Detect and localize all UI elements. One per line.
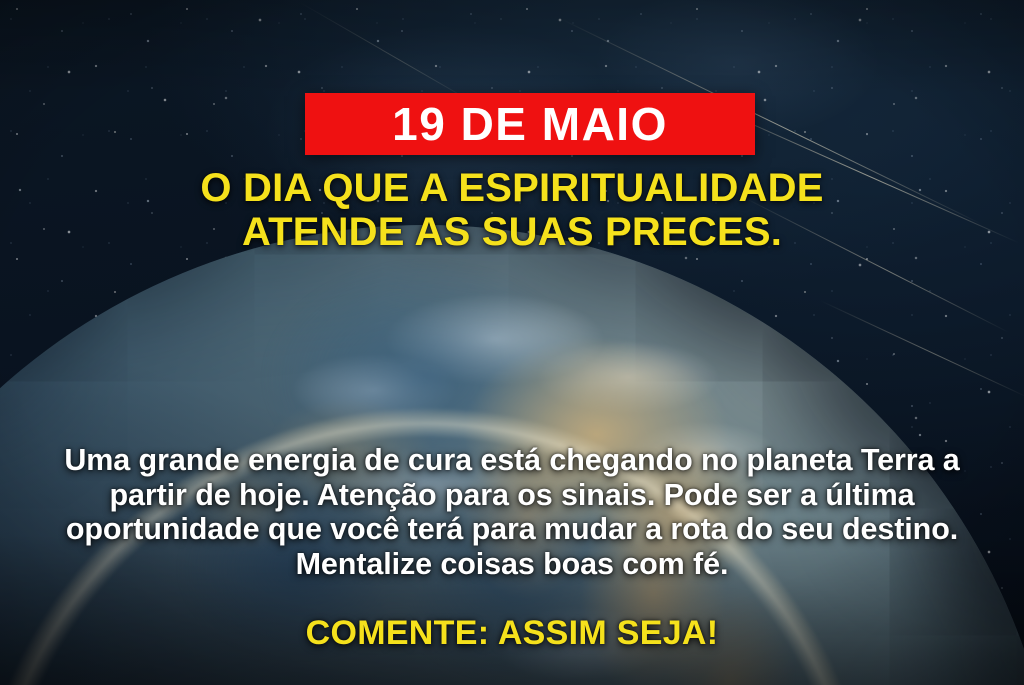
date-banner: 19 DE MAIO xyxy=(305,93,755,155)
headline-line-2: ATENDE AS SUAS PRECES. xyxy=(0,210,1024,254)
headline-line-1: O DIA QUE A ESPIRITUALIDADE xyxy=(200,166,823,210)
call-to-action-label: COMENTE: ASSIM SEJA! xyxy=(0,614,1024,653)
poster-content: 19 DE MAIO O DIA QUE A ESPIRITUALIDADE A… xyxy=(0,0,1024,685)
body-paragraph: Uma grande energia de cura está chegando… xyxy=(52,443,972,581)
headline: O DIA QUE A ESPIRITUALIDADE ATENDE AS SU… xyxy=(0,166,1024,254)
poster-canvas: 19 DE MAIO O DIA QUE A ESPIRITUALIDADE A… xyxy=(0,0,1024,685)
date-banner-label: 19 DE MAIO xyxy=(392,101,668,147)
